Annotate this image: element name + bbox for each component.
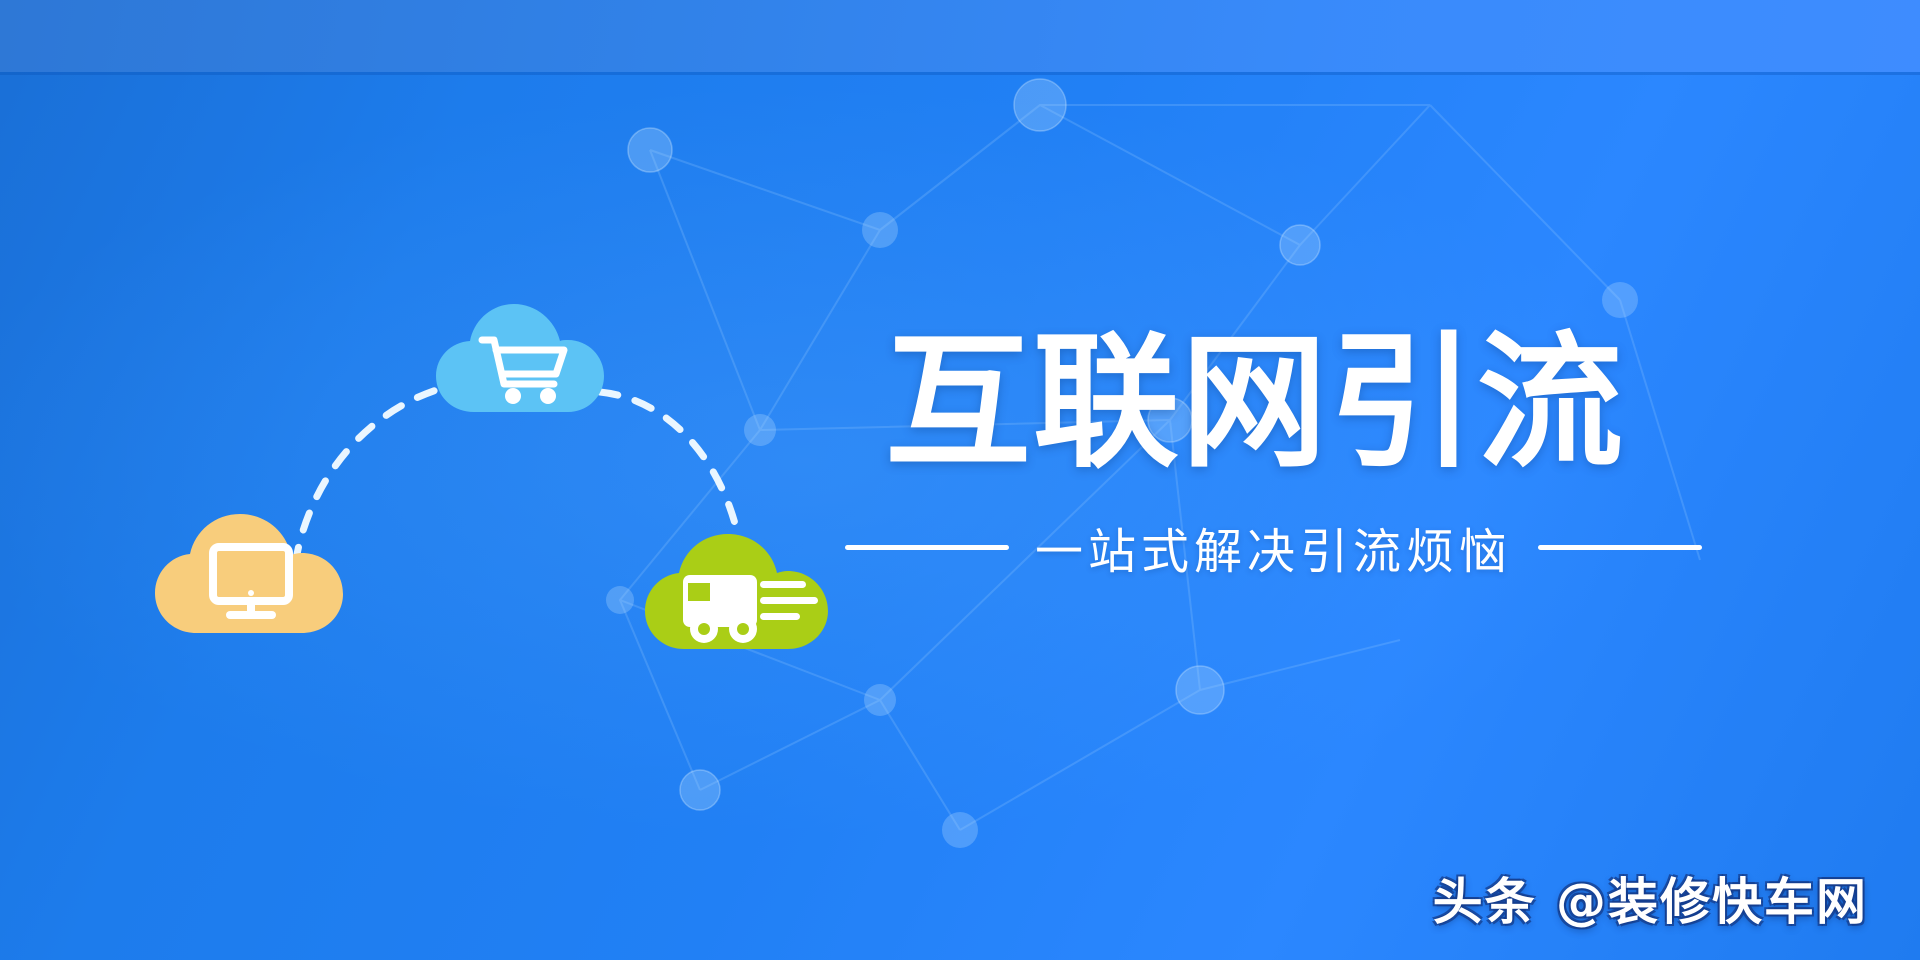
page-title: 互联网引流 [885,330,1725,476]
page-subtitle: 一站式解决引流烦恼 [1035,512,1512,582]
top-strip-divider [0,72,1920,75]
cloud-computer [150,505,365,645]
rule-right [1538,545,1702,550]
promo-banner: 互联网引流 一站式解决引流烦恼 头条 @装修快车网 [0,0,1920,960]
top-strip [0,0,1920,72]
subtitle-row: 一站式解决引流烦恼 [845,512,1725,582]
cloud-cart [430,290,620,425]
headline-block: 互联网引流 一站式解决引流烦恼 [885,330,1725,582]
monitor-indicator-dot [248,590,254,596]
cloud-truck [640,525,850,660]
watermark: 头条 @装修快车网 [1433,862,1868,934]
rule-left [845,545,1009,550]
